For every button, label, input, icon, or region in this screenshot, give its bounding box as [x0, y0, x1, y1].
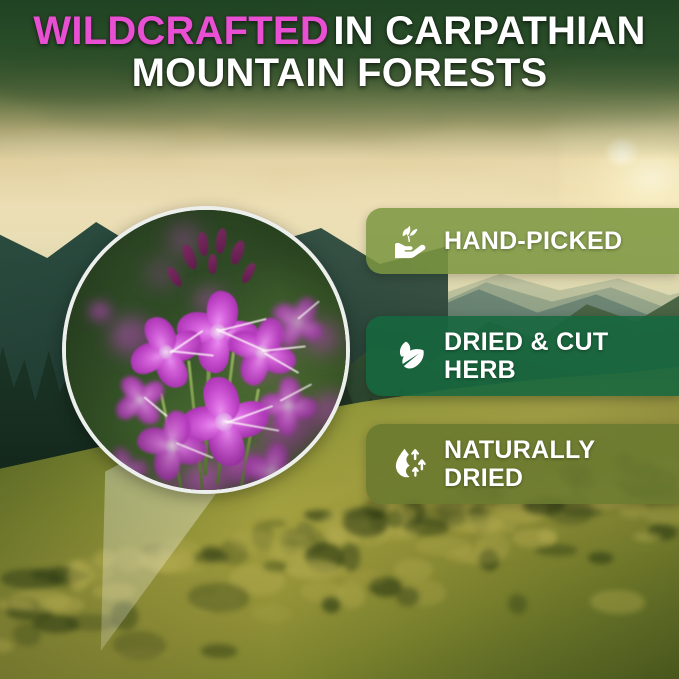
badge-label: HAND-PICKED — [444, 227, 622, 255]
feature-badge-list: HAND-PICKED DRIED & CUT HERB — [0, 0, 679, 679]
hand-holding-sprout-icon — [388, 220, 430, 262]
badge-label: DRIED & CUT HERB — [444, 328, 608, 384]
badge-hand-picked[interactable]: HAND-PICKED — [366, 208, 679, 274]
wildcrafted-banner: WILDCRAFTED IN CARPATHIAN MOUNTAIN FORES… — [0, 0, 679, 679]
badge-label: NATURALLY DRIED — [444, 436, 595, 492]
two-leaves-icon — [388, 335, 430, 377]
droplet-evaporation-icon — [388, 443, 430, 485]
badge-dried-cut-herb[interactable]: DRIED & CUT HERB — [366, 316, 679, 396]
badge-naturally-dried[interactable]: NATURALLY DRIED — [366, 424, 679, 504]
